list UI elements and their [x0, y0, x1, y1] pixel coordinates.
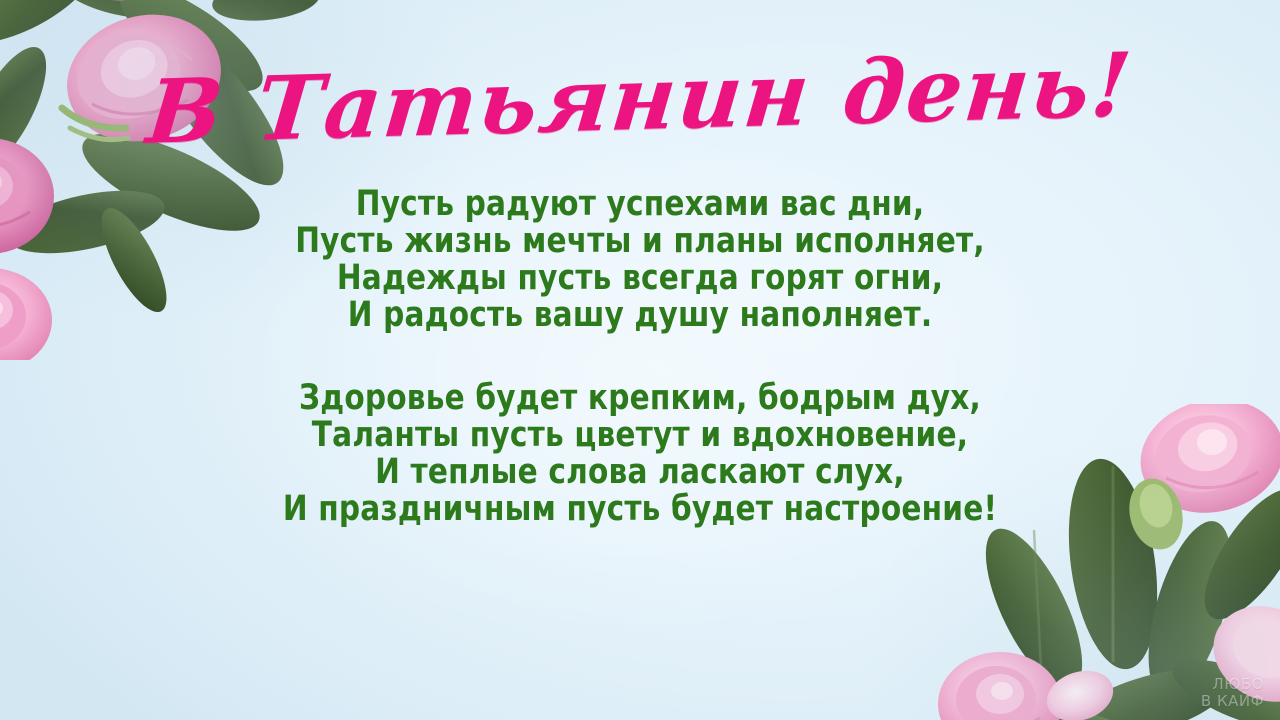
- card-content: В Татьянин день! Пусть радуют успехами в…: [0, 0, 1280, 720]
- poem-line: Пусть радуют успехами вас дни,: [38, 186, 1241, 223]
- poem-stanza-2: Здоровье будет крепким, бодрым дух, Тала…: [0, 380, 1280, 528]
- page-title: В Татьянин день!: [0, 36, 1280, 160]
- poem-line: Здоровье будет крепким, бодрым дух,: [38, 380, 1241, 417]
- poem-line: И радость вашу душу наполняет.: [38, 297, 1241, 334]
- poem-stanza-1: Пусть радуют успехами вас дни, Пусть жиз…: [0, 186, 1280, 334]
- poem-line: И праздничным пусть будет настроение!: [38, 491, 1241, 528]
- poem-line: Таланты пусть цветут и вдохновение,: [38, 417, 1241, 454]
- poem-line: Надежды пусть всегда горят огни,: [38, 260, 1241, 297]
- poem-block: Пусть радуют успехами вас дни, Пусть жиз…: [0, 186, 1280, 528]
- greeting-card: В Татьянин день! Пусть радуют успехами в…: [0, 0, 1280, 720]
- poem-line: И теплые слова ласкают слух,: [38, 454, 1241, 491]
- poem-line: Пусть жизнь мечты и планы исполняет,: [38, 223, 1241, 260]
